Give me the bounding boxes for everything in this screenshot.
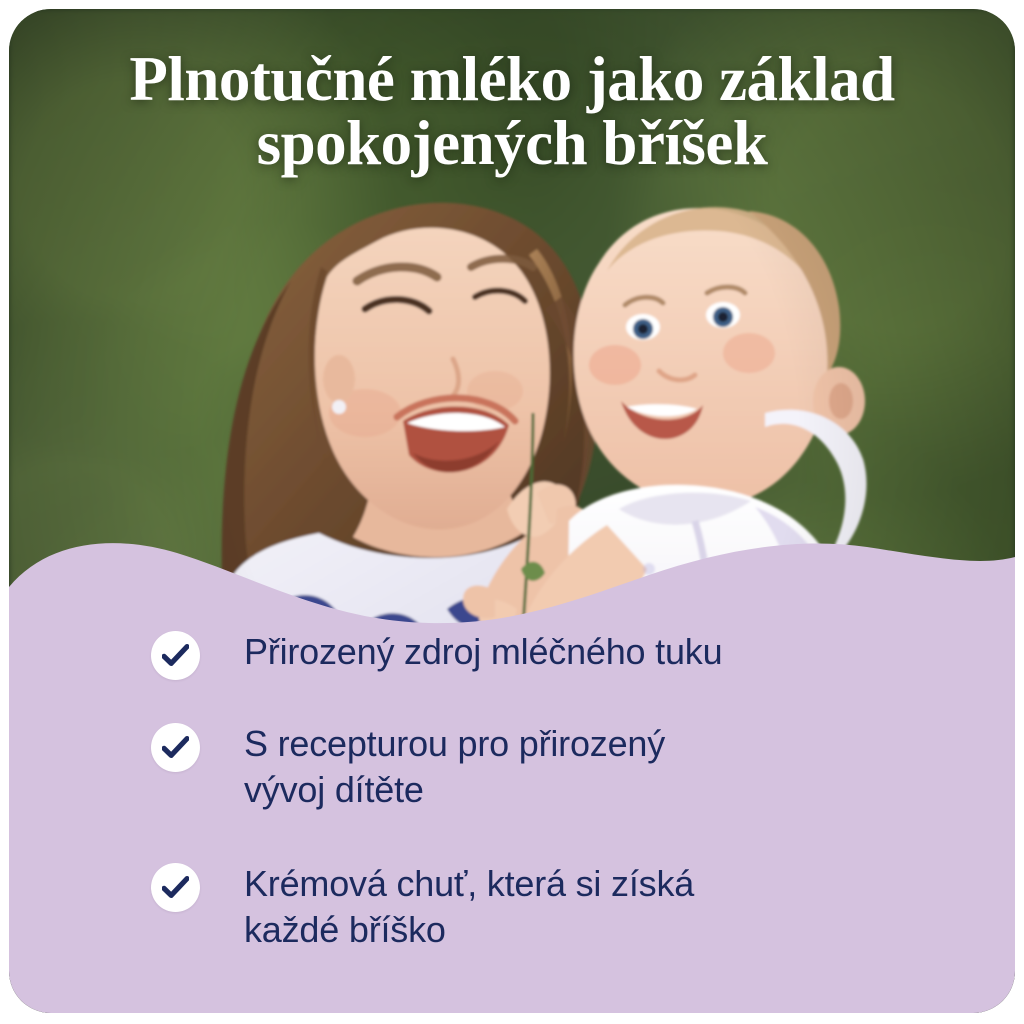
list-item[interactable]: Krémová chuť, která si získá každé bříšk… <box>151 861 694 953</box>
list-item-label: S recepturou pro přirozený vývoj dítěte <box>244 721 665 813</box>
promo-card: Plnotučné mléko jako základ spokojených … <box>9 9 1015 1013</box>
check-icon <box>151 863 200 912</box>
headline-line-1: Plnotučné mléko jako základ <box>49 47 975 111</box>
headline-line-2: spokojených bříšek <box>49 111 975 175</box>
list-item[interactable]: S recepturou pro přirozený vývoj dítěte <box>151 721 665 813</box>
page-title: Plnotučné mléko jako základ spokojených … <box>9 47 1015 175</box>
list-item-label: Přirozený zdroj mléčného tuku <box>244 629 722 675</box>
check-icon <box>151 723 200 772</box>
list-item-label: Krémová chuť, která si získá každé bříšk… <box>244 861 694 953</box>
check-icon <box>151 631 200 680</box>
list-item[interactable]: Přirozený zdroj mléčného tuku <box>151 629 722 680</box>
